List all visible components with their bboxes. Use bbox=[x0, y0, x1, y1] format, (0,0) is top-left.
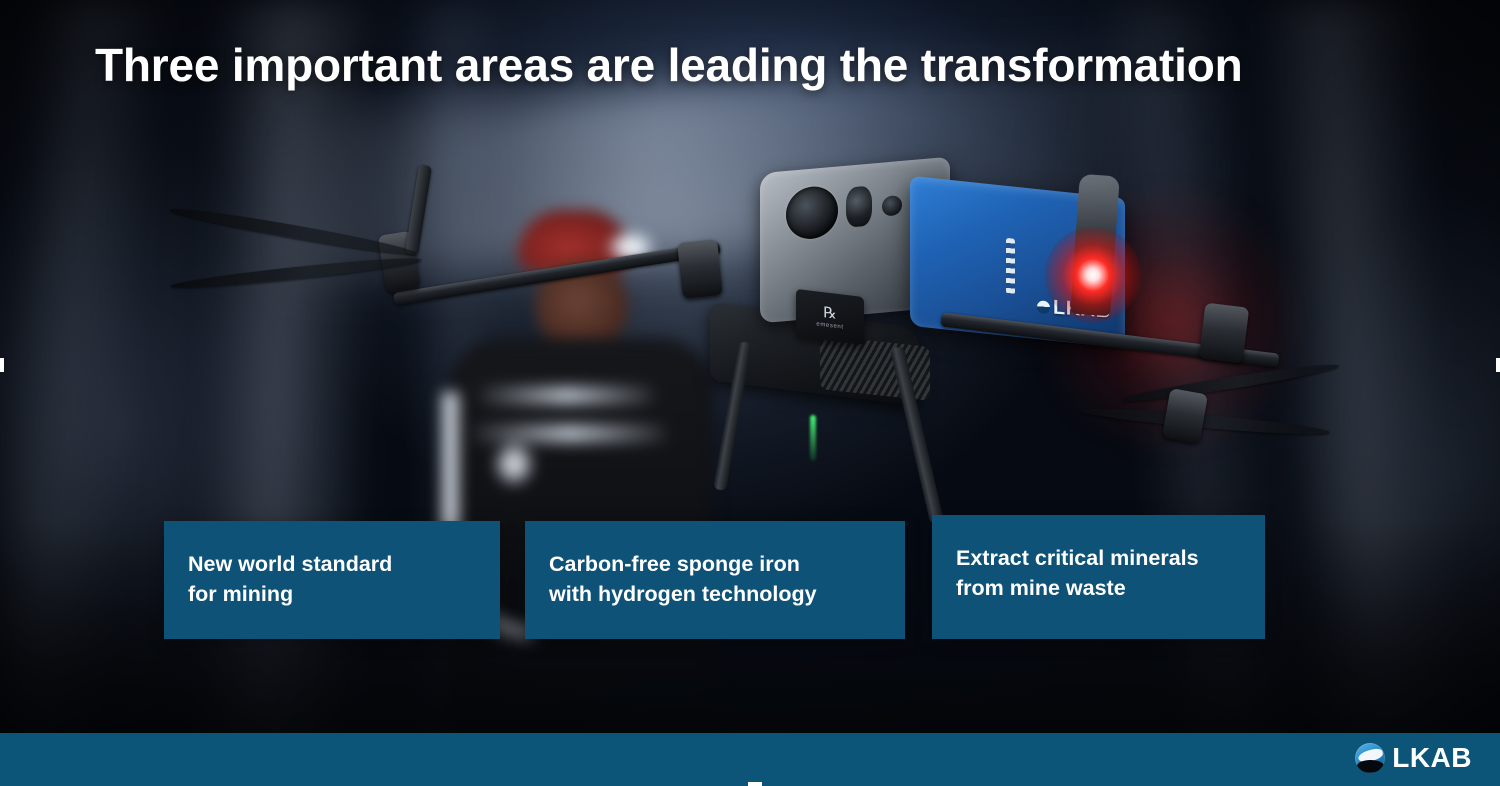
callout-critical-minerals[interactable]: Extract critical minerals from mine wast… bbox=[932, 515, 1265, 639]
callout-new-world-standard[interactable]: New world standard for mining bbox=[164, 521, 500, 639]
callout-line-2: for mining bbox=[188, 579, 476, 609]
callout-carbon-free-sponge-iron[interactable]: Carbon-free sponge iron with hydrogen te… bbox=[525, 521, 905, 639]
callout-line-1: New world standard bbox=[188, 549, 476, 579]
slide-handle-left[interactable] bbox=[0, 358, 4, 372]
lkab-mountain-icon bbox=[1355, 743, 1385, 773]
callout-line-2: with hydrogen technology bbox=[549, 579, 881, 609]
lkab-wordmark: LKAB bbox=[1392, 742, 1472, 774]
callout-group: New world standard for mining Carbon-fre… bbox=[0, 0, 1500, 786]
slide-handle-right[interactable] bbox=[1496, 358, 1500, 372]
callout-line-2: from mine waste bbox=[956, 573, 1241, 603]
slide-footer-bar: LKAB bbox=[0, 733, 1500, 786]
callout-line-1: Carbon-free sponge iron bbox=[549, 549, 881, 579]
lkab-logo: LKAB bbox=[1355, 742, 1472, 774]
presentation-slide: ℞ emesent LKAB Thr bbox=[0, 0, 1500, 786]
callout-line-1: Extract critical minerals bbox=[956, 543, 1241, 573]
slide-handle-bottom[interactable] bbox=[748, 782, 762, 786]
